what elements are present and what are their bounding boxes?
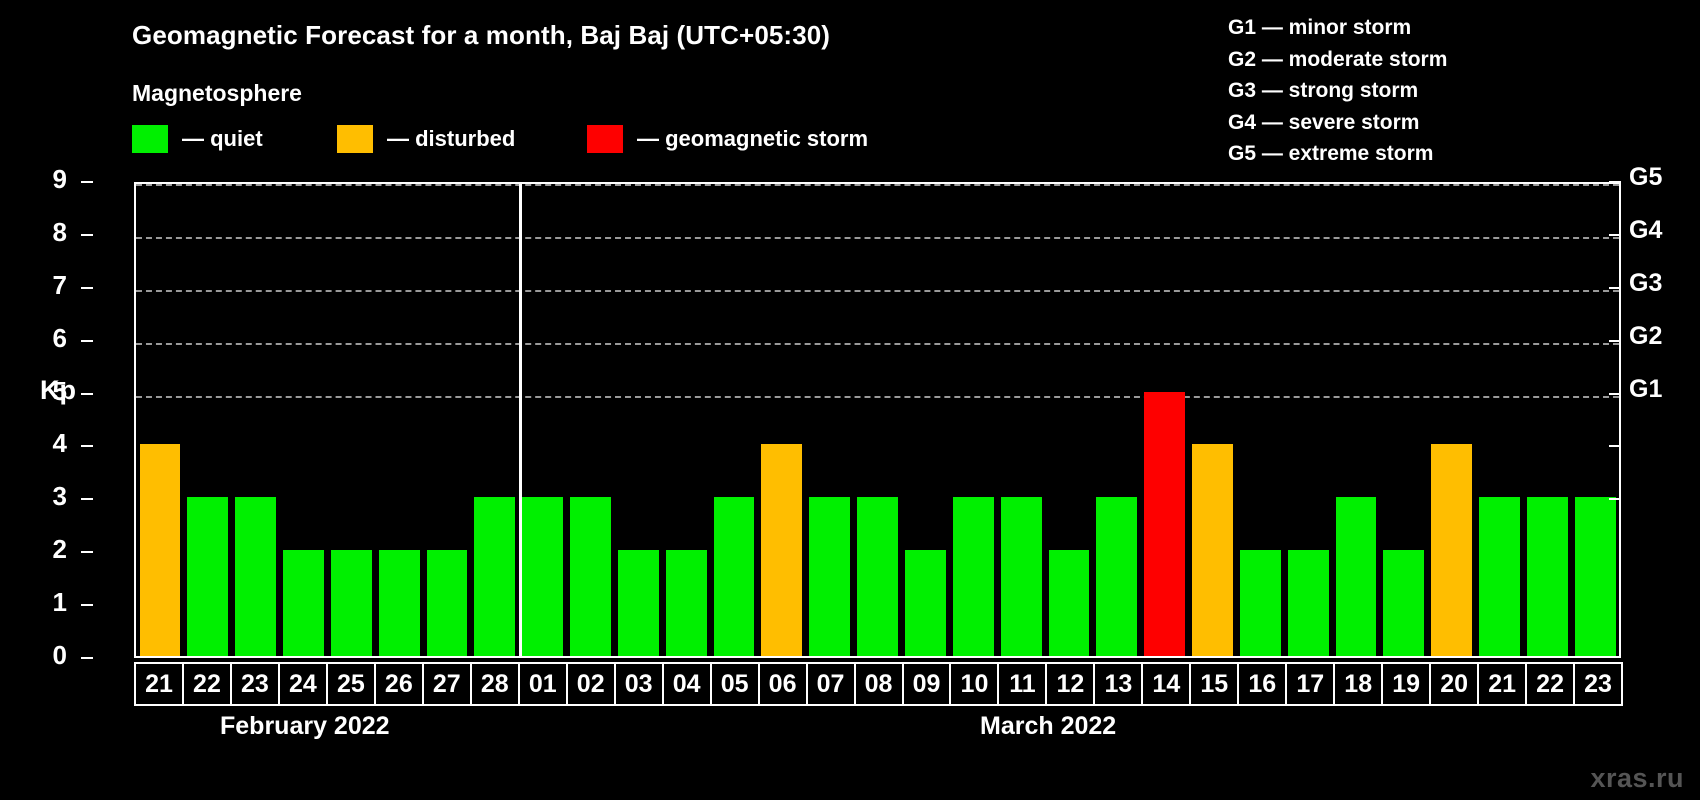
g-tick-mark (1609, 181, 1621, 183)
legend-swatch-icon (587, 125, 623, 153)
y-tick-label: 5 (27, 376, 67, 407)
day-label: 22 (193, 670, 221, 699)
bar-cell[interactable] (471, 184, 519, 656)
day-label-cell[interactable]: 28 (470, 662, 520, 706)
bar[interactable] (187, 497, 228, 656)
day-label: 24 (289, 670, 317, 699)
y-tick-label: 2 (27, 534, 67, 565)
bar-cell[interactable] (1141, 184, 1189, 656)
g-scale-line-2: G2 — moderate storm (1228, 44, 1447, 76)
bar[interactable] (283, 550, 324, 656)
bar[interactable] (427, 550, 468, 656)
day-label-cell[interactable]: 13 (1093, 662, 1143, 706)
bar[interactable] (379, 550, 420, 656)
bar-cell[interactable] (1332, 184, 1380, 656)
day-label-cell[interactable]: 25 (326, 662, 376, 706)
bar[interactable] (1192, 444, 1233, 656)
bar-cell[interactable] (854, 184, 902, 656)
bar-cell[interactable] (375, 184, 423, 656)
bar-cell[interactable] (758, 184, 806, 656)
day-label: 27 (433, 670, 461, 699)
bar-cell[interactable] (949, 184, 997, 656)
bar[interactable] (1527, 497, 1568, 656)
day-label-cell[interactable]: 06 (758, 662, 808, 706)
day-label: 14 (1152, 670, 1180, 699)
bar-cell[interactable] (806, 184, 854, 656)
g-tick-mark (1609, 498, 1621, 500)
month-separator (519, 184, 522, 656)
plot-area (134, 182, 1621, 658)
bar-cell[interactable] (902, 184, 950, 656)
y-tick-mark (81, 340, 93, 342)
magnetosphere-label: Magnetosphere (132, 80, 302, 107)
bar[interactable] (1096, 497, 1137, 656)
g-tick-label: G2 (1629, 322, 1662, 351)
day-label-cell[interactable]: 04 (662, 662, 712, 706)
bar-cell[interactable] (184, 184, 232, 656)
day-label: 07 (817, 670, 845, 699)
y-tick-mark (81, 287, 93, 289)
chart-canvas: Geomagnetic Forecast for a month, Baj Ba… (0, 0, 1700, 800)
bar-cell[interactable] (567, 184, 615, 656)
bar-cell[interactable] (1045, 184, 1093, 656)
month-label-february: February 2022 (220, 712, 390, 741)
bar-cell[interactable] (136, 184, 184, 656)
day-label-cell[interactable]: 19 (1381, 662, 1431, 706)
y-tick-mark (81, 657, 93, 659)
bar[interactable] (1288, 550, 1329, 656)
bar[interactable] (761, 444, 802, 656)
y-tick-mark (81, 551, 93, 553)
bar-cell[interactable] (232, 184, 280, 656)
day-label-cell[interactable]: 21 (134, 662, 184, 706)
day-label-cell[interactable]: 22 (182, 662, 232, 706)
day-label-cell[interactable]: 23 (1573, 662, 1623, 706)
g-tick-mark (1609, 445, 1621, 447)
g-scale-line-3: G3 — strong storm (1228, 75, 1447, 107)
bar[interactable] (857, 497, 898, 656)
day-label: 06 (769, 670, 797, 699)
g-tick-mark (1609, 393, 1621, 395)
y-tick-label: 0 (27, 640, 67, 671)
legend-swatch-icon (132, 125, 168, 153)
g-scale-legend: G1 — minor stormG2 — moderate stormG3 — … (1228, 12, 1447, 170)
y-tick-mark (81, 498, 93, 500)
day-axis: 2122232425262728010203040506070809101112… (134, 662, 1621, 706)
legend-label: — disturbed (387, 126, 515, 152)
day-label: 11 (1009, 670, 1035, 699)
bar[interactable] (140, 444, 181, 656)
bar[interactable] (1144, 392, 1185, 656)
day-label: 21 (1488, 670, 1516, 699)
day-label: 23 (241, 670, 269, 699)
bar[interactable] (618, 550, 659, 656)
bar[interactable] (714, 497, 755, 656)
legend-item-1: — disturbed (337, 124, 515, 154)
day-label: 18 (1344, 670, 1372, 699)
g-tick-label: G1 (1629, 375, 1662, 404)
bar-cell[interactable] (662, 184, 710, 656)
bar[interactable] (1049, 550, 1090, 656)
legend-label: — geomagnetic storm (637, 126, 868, 152)
g-tick-label: G4 (1629, 216, 1662, 245)
watermark: xras.ru (1590, 763, 1684, 794)
day-label: 22 (1536, 670, 1564, 699)
bar-cell[interactable] (423, 184, 471, 656)
day-label-cell[interactable]: 10 (949, 662, 999, 706)
bar-cell[interactable] (710, 184, 758, 656)
legend-item-2: — geomagnetic storm (587, 124, 868, 154)
g-scale-line-1: G1 — minor storm (1228, 12, 1447, 44)
day-label: 03 (625, 670, 653, 699)
y-tick-mark (81, 604, 93, 606)
bar-cell[interactable] (1093, 184, 1141, 656)
day-label: 04 (673, 670, 701, 699)
bar-cell[interactable] (997, 184, 1045, 656)
bar[interactable] (522, 497, 563, 656)
day-label: 20 (1440, 670, 1468, 699)
day-label: 17 (1296, 670, 1324, 699)
bar[interactable] (1383, 550, 1424, 656)
bar-cell[interactable] (327, 184, 375, 656)
y-tick-label: 7 (27, 270, 67, 301)
bar[interactable] (235, 497, 276, 656)
bar[interactable] (809, 497, 850, 656)
day-label-cell[interactable]: 18 (1333, 662, 1383, 706)
day-label: 28 (481, 670, 509, 699)
y-tick-mark (81, 234, 93, 236)
day-label-cell[interactable]: 05 (710, 662, 760, 706)
day-label-cell[interactable]: 21 (1477, 662, 1527, 706)
day-label-cell[interactable]: 15 (1189, 662, 1239, 706)
legend-item-0: — quiet (132, 124, 263, 154)
legend-swatch-icon (337, 125, 373, 153)
bar[interactable] (1431, 444, 1472, 656)
day-label-cell[interactable]: 07 (806, 662, 856, 706)
y-tick-label: 1 (27, 587, 67, 618)
day-label: 25 (337, 670, 365, 699)
bar-cell[interactable] (1428, 184, 1476, 656)
y-tick-label: 9 (27, 164, 67, 195)
bar[interactable] (1240, 550, 1281, 656)
y-tick-mark (81, 181, 93, 183)
day-label: 05 (721, 670, 749, 699)
bar[interactable] (666, 550, 707, 656)
bar-cell[interactable] (1476, 184, 1524, 656)
bar-cell[interactable] (1284, 184, 1332, 656)
day-label-cell[interactable]: 22 (1525, 662, 1575, 706)
y-tick-label: 6 (27, 323, 67, 354)
day-label-cell[interactable]: 24 (278, 662, 328, 706)
bar-cell[interactable] (1380, 184, 1428, 656)
bar[interactable] (331, 550, 372, 656)
day-label-cell[interactable]: 16 (1237, 662, 1287, 706)
day-label: 21 (145, 670, 173, 699)
day-label: 01 (529, 670, 557, 699)
day-label-cell[interactable]: 26 (374, 662, 424, 706)
day-label: 13 (1104, 670, 1132, 699)
day-label-cell[interactable]: 14 (1141, 662, 1191, 706)
bar-cell[interactable] (1189, 184, 1237, 656)
bar-cell[interactable] (1523, 184, 1571, 656)
g-tick-mark (1609, 340, 1621, 342)
bar[interactable] (1479, 497, 1520, 656)
bar-cell[interactable] (519, 184, 567, 656)
day-label: 15 (1200, 670, 1228, 699)
y-tick-label: 3 (27, 481, 67, 512)
day-label: 02 (577, 670, 605, 699)
bar-cell[interactable] (1236, 184, 1284, 656)
bar[interactable] (474, 497, 515, 656)
day-label: 19 (1392, 670, 1420, 699)
bar-cell[interactable] (280, 184, 328, 656)
day-label-cell[interactable]: 09 (902, 662, 952, 706)
month-label-march: March 2022 (980, 712, 1116, 741)
y-tick-mark (81, 393, 93, 395)
bar[interactable] (1001, 497, 1042, 656)
page-title: Geomagnetic Forecast for a month, Baj Ba… (132, 20, 830, 51)
legend-label: — quiet (182, 126, 263, 152)
day-label-cell[interactable]: 12 (1045, 662, 1095, 706)
bar[interactable] (905, 550, 946, 656)
day-label: 26 (385, 670, 413, 699)
day-label-cell[interactable]: 23 (230, 662, 280, 706)
bar-cell[interactable] (614, 184, 662, 656)
day-label-cell[interactable]: 20 (1429, 662, 1479, 706)
g-scale-line-5: G5 — extreme storm (1228, 138, 1447, 170)
day-label: 10 (961, 670, 989, 699)
g-tick-mark (1609, 287, 1621, 289)
bar-series (136, 184, 1619, 656)
g-tick-mark (1609, 234, 1621, 236)
y-tick-label: 4 (27, 428, 67, 459)
g-tick-label: G3 (1629, 269, 1662, 298)
day-label: 16 (1248, 670, 1276, 699)
day-label-cell[interactable]: 17 (1285, 662, 1335, 706)
day-label-cell[interactable]: 27 (422, 662, 472, 706)
bar[interactable] (953, 497, 994, 656)
day-label: 12 (1056, 670, 1084, 699)
y-tick-mark (81, 445, 93, 447)
day-label: 23 (1584, 670, 1612, 699)
day-label-cell[interactable]: 08 (854, 662, 904, 706)
day-label-cell[interactable]: 02 (566, 662, 616, 706)
g-tick-label: G5 (1629, 163, 1662, 192)
g-scale-line-4: G4 — severe storm (1228, 107, 1447, 139)
y-tick-label: 8 (27, 217, 67, 248)
bar[interactable] (1336, 497, 1377, 656)
day-label: 08 (865, 670, 893, 699)
day-label: 09 (913, 670, 941, 699)
bar[interactable] (570, 497, 611, 656)
day-label-cell[interactable]: 03 (614, 662, 664, 706)
bar-cell[interactable] (1571, 184, 1619, 656)
day-label-cell[interactable]: 01 (518, 662, 568, 706)
day-label-cell[interactable]: 11 (997, 662, 1047, 706)
bar[interactable] (1575, 497, 1616, 656)
